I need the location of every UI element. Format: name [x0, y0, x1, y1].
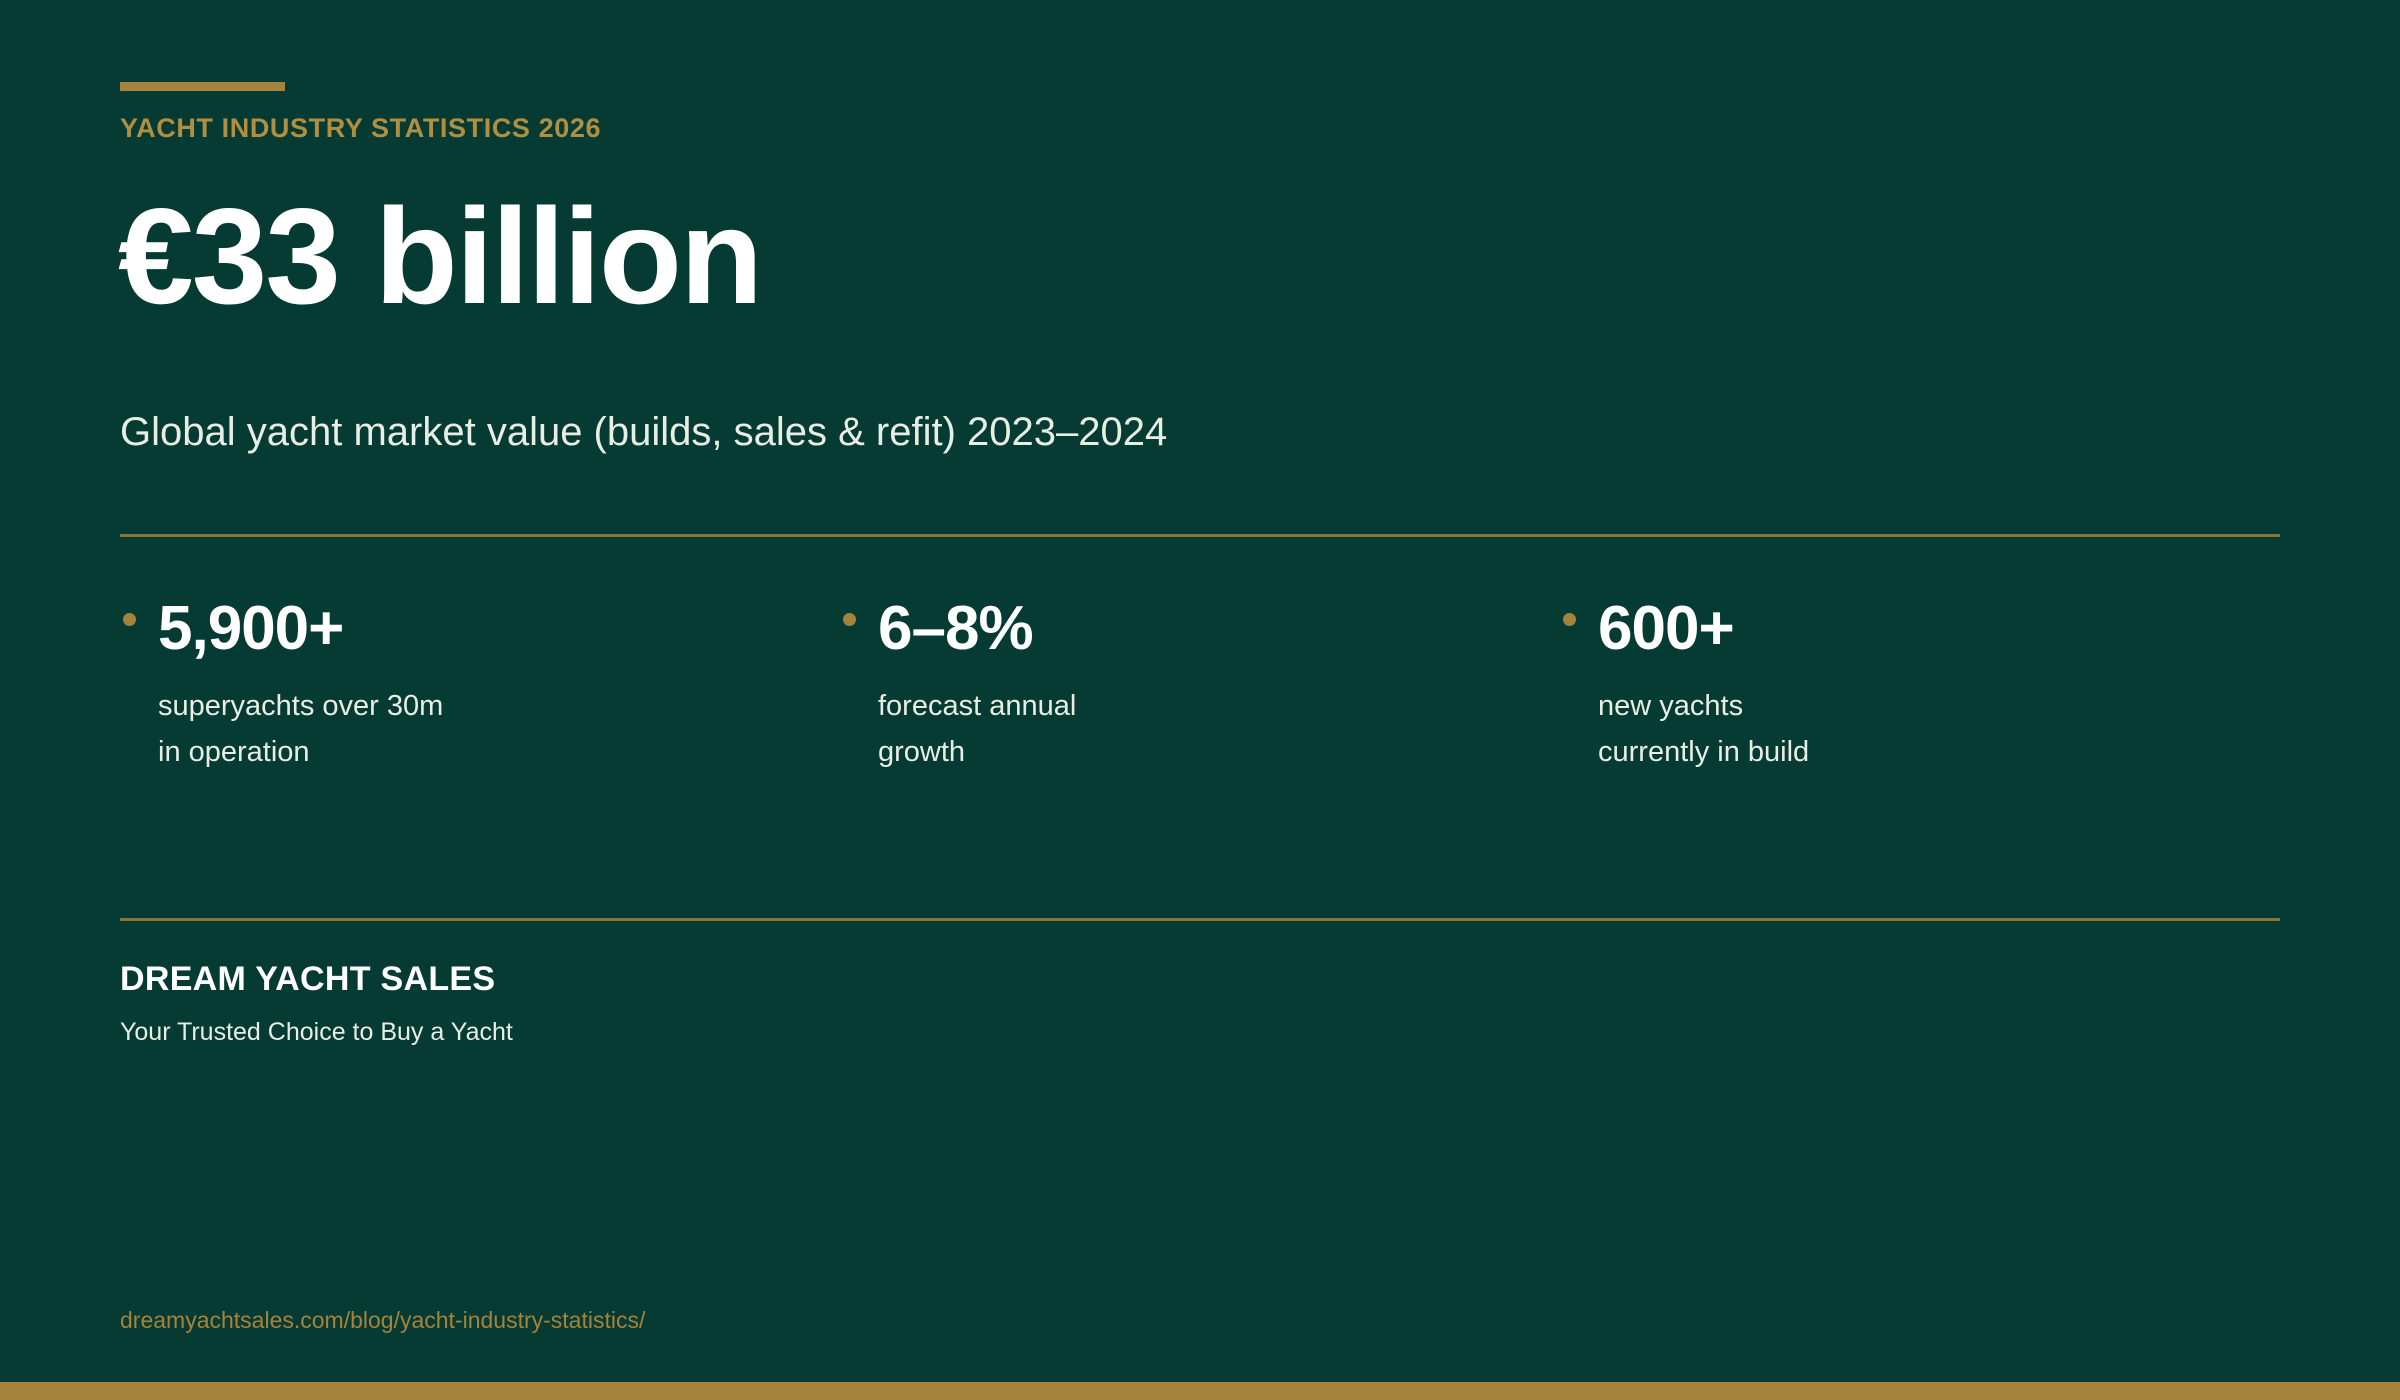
source-url[interactable]: dreamyachtsales.com/blog/yacht-industry-… — [120, 1307, 645, 1334]
brand-name: DREAM YACHT SALES — [120, 960, 495, 999]
eyebrow-label: YACHT INDUSTRY STATISTICS 2026 — [120, 113, 601, 144]
headline-stat: €33 billion — [118, 185, 761, 328]
stat-card: 6–8% forecast annual growth — [840, 596, 1560, 776]
stat-value: 6–8% — [878, 596, 1560, 661]
bullet-dot-icon — [123, 613, 136, 626]
stats-row: 5,900+ superyachts over 30m in operation… — [120, 596, 2280, 776]
accent-bar — [120, 82, 285, 91]
bottom-accent-bar — [0, 1382, 2400, 1400]
stat-label: new yachts currently in build — [1598, 683, 2280, 776]
divider-bottom — [120, 918, 2280, 921]
bullet-dot-icon — [1563, 613, 1576, 626]
bullet-dot-icon — [843, 613, 856, 626]
stat-card: 5,900+ superyachts over 30m in operation — [120, 596, 840, 776]
divider-top — [120, 534, 2280, 537]
brand-tagline: Your Trusted Choice to Buy a Yacht — [120, 1018, 513, 1047]
stat-card: 600+ new yachts currently in build — [1560, 596, 2280, 776]
stat-value: 5,900+ — [158, 596, 840, 661]
infographic-slide: YACHT INDUSTRY STATISTICS 2026 €33 billi… — [0, 0, 2400, 1400]
stat-value: 600+ — [1598, 596, 2280, 661]
stat-label: superyachts over 30m in operation — [158, 683, 840, 776]
headline-subtitle: Global yacht market value (builds, sales… — [120, 408, 1167, 456]
stat-label: forecast annual growth — [878, 683, 1560, 776]
